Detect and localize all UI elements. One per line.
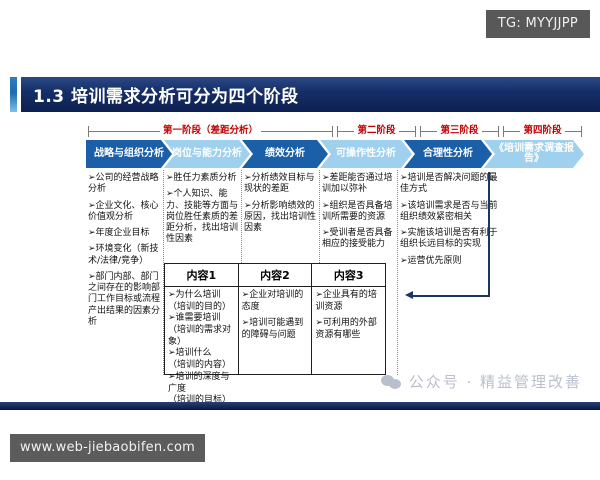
chevron-band: 战略与组织分析 岗位与能力分析 绩效分析 可操作性分析 合理性分析 《培训需求调… — [86, 140, 584, 168]
bullet-item: ➢年度企业目标 — [88, 228, 160, 239]
content-line: ➢培训什么 — [168, 348, 235, 360]
wechat-bubble-small — [389, 379, 401, 389]
bullet-marker: ➢ — [166, 173, 174, 183]
slide-title-bar: 1.3 培训需求分析可分为四个阶段 — [0, 77, 600, 112]
phase-bracket-1: 第一阶段（差距分析） — [86, 120, 335, 140]
content-table-header: 内容2 — [239, 264, 312, 287]
bullet-text: 公司的经营战略分析 — [88, 173, 159, 194]
bullet-item: ➢部门内部、部门之间存在的影响部门工作目标或流程产出结果的因素分析 — [88, 272, 160, 328]
content-line: ➢培训可能遇到的障碍与问题 — [242, 318, 309, 341]
bullet-item: ➢实施该培训是否有利于组织长远目标的实现 — [400, 228, 499, 251]
content-table-header: 内容3 — [312, 264, 385, 287]
content-table-column-3: 内容3 ➢企业具有的培训资源 ➢可利用的外部资源有哪些 — [312, 264, 385, 374]
content-table-body: ➢为什么培训 （培训的目的） ➢谁需要培训 （培训的需求对象） ➢培训什么 （培… — [165, 287, 238, 407]
content-line: （培训的内容） — [168, 360, 235, 372]
chevron-survey-report[interactable]: 《培训需求调查报告》 — [484, 140, 584, 168]
content-text: 培训的深度与广度 — [168, 372, 230, 394]
phase-tick-right — [498, 126, 499, 137]
phase-tick-left — [503, 126, 504, 137]
phase-label: 第一阶段（差距分析） — [160, 122, 261, 136]
phase-bracket-row: 第一阶段（差距分析） 第二阶段 第三阶段 第四阶段 — [86, 120, 584, 140]
bullet-marker: ➢ — [322, 201, 330, 211]
column-strategy-organization-analysis: ➢公司的经营战略分析 ➢企业文化、核心价值观分析 ➢年度企业目标 ➢环境变化（新… — [86, 170, 164, 375]
phase-tick-left — [420, 126, 421, 137]
bullet-text: 部门内部、部门之间存在的影响部门工作目标或流程产出结果的因素分析 — [88, 272, 160, 327]
chevron-operability[interactable]: 可操作性分析 — [320, 140, 412, 168]
bullet-item: ➢组织是否具备培训所需要的资源 — [322, 201, 394, 224]
chevron-label: 可操作性分析 — [333, 149, 399, 160]
bullet-marker: ➢ — [168, 313, 176, 323]
phase-bracket-4: 第四阶段 — [501, 120, 584, 140]
title-bar-background: 1.3 培训需求分析可分为四个阶段 — [21, 77, 600, 112]
bullet-marker: ➢ — [88, 244, 96, 254]
page-title: 1.3 培训需求分析可分为四个阶段 — [21, 82, 299, 107]
bullet-item: ➢运营优先原则 — [400, 256, 499, 267]
wechat-icon — [381, 374, 402, 390]
watermark-url: www.web-jiebaobifen.com — [10, 434, 205, 462]
bullet-item: ➢胜任力素质分析 — [166, 173, 238, 184]
bullet-item: ➢分析绩效目标与现状的差距 — [244, 173, 316, 196]
column-rationality-analysis: ➢培训是否解决问题的最佳方式 ➢该培训需求是否与当前组织绩效紧密相关 ➢实施该培… — [398, 170, 502, 375]
content-text: 谁需要培训 — [176, 313, 221, 323]
bullet-marker: ➢ — [166, 189, 174, 199]
bullet-text: 年度企业目标 — [96, 228, 150, 238]
chevron-strategy-organization[interactable]: 战略与组织分析 — [86, 140, 172, 168]
bullet-item: ➢公司的经营战略分析 — [88, 173, 160, 196]
bullet-item: ➢差距能否通过培训加以弥补 — [322, 173, 394, 196]
content-line: ➢谁需要培训 — [168, 313, 235, 325]
content-line: ➢为什么培训 — [168, 290, 235, 302]
content-table-header: 内容1 — [165, 264, 238, 287]
bullet-text: 实施该培训是否有利于组织长远目标的实现 — [400, 228, 498, 249]
title-accent-bar — [10, 77, 17, 112]
chevron-label: 《培训需求调查报告》 — [484, 144, 584, 165]
bullet-text: 运营优先原则 — [408, 256, 462, 266]
content-table-column-2: 内容2 ➢企业对培训的态度 ➢培训可能遇到的障碍与问题 — [239, 264, 313, 374]
bullet-marker: ➢ — [400, 228, 408, 238]
bullet-text: 企业文化、核心价值观分析 — [88, 201, 159, 222]
content-table: 内容1 ➢为什么培训 （培训的目的） ➢谁需要培训 （培训的需求对象） ➢培训什… — [164, 263, 386, 375]
content-line: ➢企业对培训的态度 — [242, 290, 309, 313]
phase-tick-right — [415, 126, 416, 137]
bullet-text: 分析绩效目标与现状的差距 — [244, 173, 315, 194]
bullet-marker: ➢ — [244, 201, 252, 211]
phase-label: 第三阶段 — [437, 122, 481, 136]
bullet-item: ➢环境变化（新技术/法律/竞争） — [88, 244, 160, 267]
bullet-text: 个人知识、能力、技能等方面与岗位胜任素质的差距分析，找出培训性因素 — [166, 189, 238, 244]
content-table-body: ➢企业具有的培训资源 ➢可利用的外部资源有哪些 — [312, 287, 385, 342]
bullet-item: ➢分析影响绩效的原因，找出培训性因素 — [244, 201, 316, 235]
bullet-text: 分析影响绩效的原因，找出培训性因素 — [244, 201, 316, 234]
brand-text: 公众号 · 精益管理改善 — [409, 371, 582, 392]
chevron-label: 绩效分析 — [262, 149, 308, 160]
phase-bracket-3: 第三阶段 — [418, 120, 501, 140]
chevron-label: 战略与组织分析 — [91, 149, 167, 160]
phase-tick-left — [337, 126, 338, 137]
bullet-marker: ➢ — [88, 228, 96, 238]
bullet-marker: ➢ — [400, 256, 408, 266]
bullet-marker: ➢ — [88, 272, 96, 282]
connector-vertical-line — [488, 172, 490, 297]
content-text: 可利用的外部资源有哪些 — [315, 318, 377, 340]
bullet-text: 组织是否具备培训所需要的资源 — [322, 201, 393, 222]
content-table-body: ➢企业对培训的态度 ➢培训可能遇到的障碍与问题 — [239, 287, 312, 342]
bullet-item: ➢企业文化、核心价值观分析 — [88, 201, 160, 224]
chevron-label: 岗位与能力分析 — [169, 149, 245, 160]
content-text: 企业对培训的态度 — [242, 290, 304, 312]
phase-tick-right — [581, 126, 582, 137]
phase-label: 第四阶段 — [520, 122, 564, 136]
content-line: （培训的目的） — [168, 302, 235, 314]
phase-bracket-2: 第二阶段 — [335, 120, 418, 140]
bullet-item: ➢该培训需求是否与当前组织绩效紧密相关 — [400, 201, 499, 224]
content-line: ➢企业具有的培训资源 — [315, 290, 382, 313]
bullet-marker: ➢ — [400, 173, 408, 183]
bullet-marker: ➢ — [168, 290, 176, 300]
phase-tick-right — [332, 126, 333, 137]
chevron-performance[interactable]: 绩效分析 — [242, 140, 328, 168]
bullet-marker: ➢ — [400, 201, 408, 211]
bullet-marker: ➢ — [88, 201, 96, 211]
bullet-marker: ➢ — [322, 228, 330, 238]
bullet-text: 差距能否通过培训加以弥补 — [322, 173, 393, 194]
phase-label: 第二阶段 — [354, 122, 398, 136]
phase-tick-left — [88, 126, 89, 137]
connector-horizontal-line — [412, 295, 490, 297]
content-text: 培训什么 — [176, 348, 212, 358]
bullet-marker: ➢ — [315, 318, 323, 328]
content-line: ➢可利用的外部资源有哪些 — [315, 318, 382, 341]
chevron-label: 合理性分析 — [420, 149, 476, 160]
content-text: 企业具有的培训资源 — [315, 290, 377, 312]
content-text: 培训可能遇到的障碍与问题 — [242, 318, 304, 340]
bullet-text: 胜任力素质分析 — [174, 173, 237, 183]
content-text: 为什么培训 — [176, 290, 221, 300]
content-line: （培训的需求对象） — [168, 325, 235, 348]
bullet-marker: ➢ — [322, 173, 330, 183]
content-line: ➢培训的深度与广度 — [168, 372, 235, 395]
bullet-text: 培训是否解决问题的最佳方式 — [400, 173, 498, 194]
bullet-text: 该培训需求是否与当前组织绩效紧密相关 — [400, 201, 498, 222]
bullet-text: 环境变化（新技术/法律/竞争） — [88, 244, 159, 265]
chevron-rationality[interactable]: 合理性分析 — [404, 140, 492, 168]
tg-badge: TG: MYYJJPP — [486, 10, 590, 38]
bullet-marker: ➢ — [315, 290, 323, 300]
bullet-marker: ➢ — [168, 348, 176, 358]
chevron-position-competency[interactable]: 岗位与能力分析 — [164, 140, 250, 168]
bullet-item: ➢受训者是否具备相应的接受能力 — [322, 228, 394, 251]
content-table-column-1: 内容1 ➢为什么培训 （培训的目的） ➢谁需要培训 （培训的需求对象） ➢培训什… — [165, 264, 239, 374]
brand-footer: 公众号 · 精益管理改善 — [381, 371, 582, 392]
bullet-item: ➢培训是否解决问题的最佳方式 — [400, 173, 499, 196]
bullet-marker: ➢ — [88, 173, 96, 183]
bottom-decorative-bar — [0, 402, 600, 410]
bullet-item: ➢个人知识、能力、技能等方面与岗位胜任素质的差距分析，找出培训性因素 — [166, 189, 238, 245]
connector-arrow-icon — [405, 291, 413, 299]
bullet-marker: ➢ — [168, 372, 176, 382]
bullet-text: 受训者是否具备相应的接受能力 — [322, 228, 393, 249]
bullet-marker: ➢ — [244, 173, 252, 183]
